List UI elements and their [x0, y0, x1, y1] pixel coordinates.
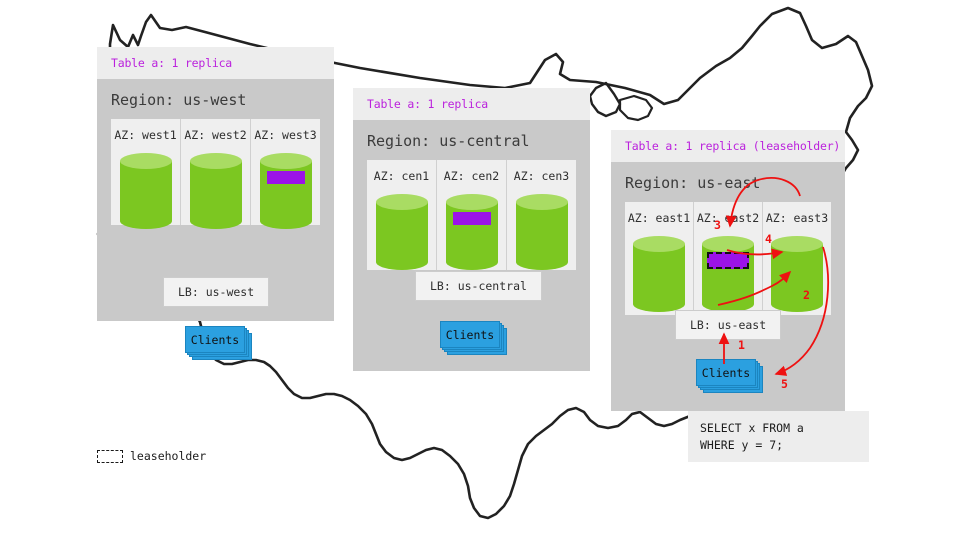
cylinder-body — [771, 244, 823, 304]
az-west3[interactable]: AZ: west3 — [251, 119, 320, 225]
az-label-east3: AZ: east3 — [763, 211, 831, 225]
az-east1[interactable]: AZ: east1 — [625, 202, 694, 315]
node-cylinder-cen1[interactable] — [376, 194, 428, 266]
node-cylinder-cen3[interactable] — [516, 194, 568, 266]
region-header-us-central: Table a: 1 replica — [353, 88, 590, 120]
az-label-east2: AZ: east2 — [694, 211, 762, 225]
node-cylinder-east2[interactable] — [702, 236, 754, 308]
cylinder-body — [633, 244, 685, 304]
node-cylinder-east1[interactable] — [633, 236, 685, 308]
step-number-4: 4 — [765, 232, 772, 246]
az-label-cen3: AZ: cen3 — [507, 169, 576, 183]
clients-label-us-central[interactable]: Clients — [440, 321, 500, 348]
node-cylinder-west1[interactable] — [120, 153, 172, 225]
diagram-canvas: Table a: 1 replica Region: us-west AZ: w… — [0, 0, 960, 540]
region-header-us-west: Table a: 1 replica — [97, 47, 334, 79]
cylinder-top — [376, 194, 428, 210]
az-row-us-east: AZ: east1 AZ: east2 AZ: east3 — [625, 202, 831, 315]
region-panel-us-central[interactable]: Table a: 1 replica Region: us-central AZ… — [353, 88, 590, 371]
leaseholder-dashed-box-icon — [97, 450, 123, 463]
az-label-cen2: AZ: cen2 — [437, 169, 506, 183]
step-number-3: 3 — [714, 218, 721, 232]
az-west1[interactable]: AZ: west1 — [111, 119, 181, 225]
replica-marker-cen2 — [453, 212, 491, 225]
az-west2[interactable]: AZ: west2 — [181, 119, 251, 225]
step-number-2: 2 — [803, 288, 810, 302]
leaseholder-replica-marker-east2 — [707, 252, 749, 269]
legend-label: leaseholder — [130, 449, 206, 463]
clients-label-us-east[interactable]: Clients — [696, 359, 756, 386]
clients-label-us-west[interactable]: Clients — [185, 326, 245, 353]
cylinder-top — [120, 153, 172, 169]
az-cen3[interactable]: AZ: cen3 — [507, 160, 576, 270]
cylinder-body — [120, 161, 172, 221]
sql-query-box: SELECT x FROM a WHERE y = 7; — [688, 411, 869, 462]
az-label-west3: AZ: west3 — [251, 128, 320, 142]
cylinder-top — [190, 153, 242, 169]
az-label-cen1: AZ: cen1 — [367, 169, 436, 183]
cylinder-top — [446, 194, 498, 210]
region-panel-us-east[interactable]: Table a: 1 replica (leaseholder) Region:… — [611, 130, 845, 411]
cylinder-body — [190, 161, 242, 221]
az-east2[interactable]: AZ: east2 — [694, 202, 763, 315]
clients-stack-us-west[interactable]: Clients — [185, 326, 243, 351]
load-balancer-us-central[interactable]: LB: us-central — [415, 271, 542, 301]
load-balancer-us-west[interactable]: LB: us-west — [163, 277, 269, 307]
cylinder-top — [771, 236, 823, 252]
load-balancer-us-east[interactable]: LB: us-east — [675, 310, 781, 340]
cylinder-body — [260, 161, 312, 221]
clients-stack-us-east[interactable]: Clients — [696, 359, 754, 384]
step-number-5: 5 — [781, 377, 788, 391]
cylinder-top — [633, 236, 685, 252]
great-lakes-path — [590, 83, 620, 116]
az-row-us-central: AZ: cen1 AZ: cen2 AZ: cen3 — [367, 160, 576, 270]
region-title-us-east: Region: us-east — [611, 162, 845, 202]
cylinder-top — [260, 153, 312, 169]
az-cen2[interactable]: AZ: cen2 — [437, 160, 507, 270]
region-panel-us-west[interactable]: Table a: 1 replica Region: us-west AZ: w… — [97, 47, 334, 321]
node-cylinder-west2[interactable] — [190, 153, 242, 225]
cylinder-body — [446, 202, 498, 262]
node-cylinder-west3[interactable] — [260, 153, 312, 225]
legend: leaseholder — [97, 449, 206, 463]
az-label-east1: AZ: east1 — [625, 211, 693, 225]
az-east3[interactable]: AZ: east3 — [763, 202, 831, 315]
cylinder-top — [702, 236, 754, 252]
az-cen1[interactable]: AZ: cen1 — [367, 160, 437, 270]
region-title-us-west: Region: us-west — [97, 79, 334, 119]
node-cylinder-east3[interactable] — [771, 236, 823, 308]
az-label-west2: AZ: west2 — [181, 128, 250, 142]
cylinder-body — [516, 202, 568, 262]
cylinder-body — [376, 202, 428, 262]
step-number-1: 1 — [738, 338, 745, 352]
region-header-us-east: Table a: 1 replica (leaseholder) — [611, 130, 845, 162]
cylinder-top — [516, 194, 568, 210]
replica-marker-west3 — [267, 171, 305, 184]
lakes-detail-path — [620, 96, 652, 120]
az-label-west1: AZ: west1 — [111, 128, 180, 142]
node-cylinder-cen2[interactable] — [446, 194, 498, 266]
region-title-us-central: Region: us-central — [353, 120, 590, 160]
clients-stack-us-central[interactable]: Clients — [440, 321, 498, 346]
az-row-us-west: AZ: west1 AZ: west2 AZ: west3 — [111, 119, 320, 225]
